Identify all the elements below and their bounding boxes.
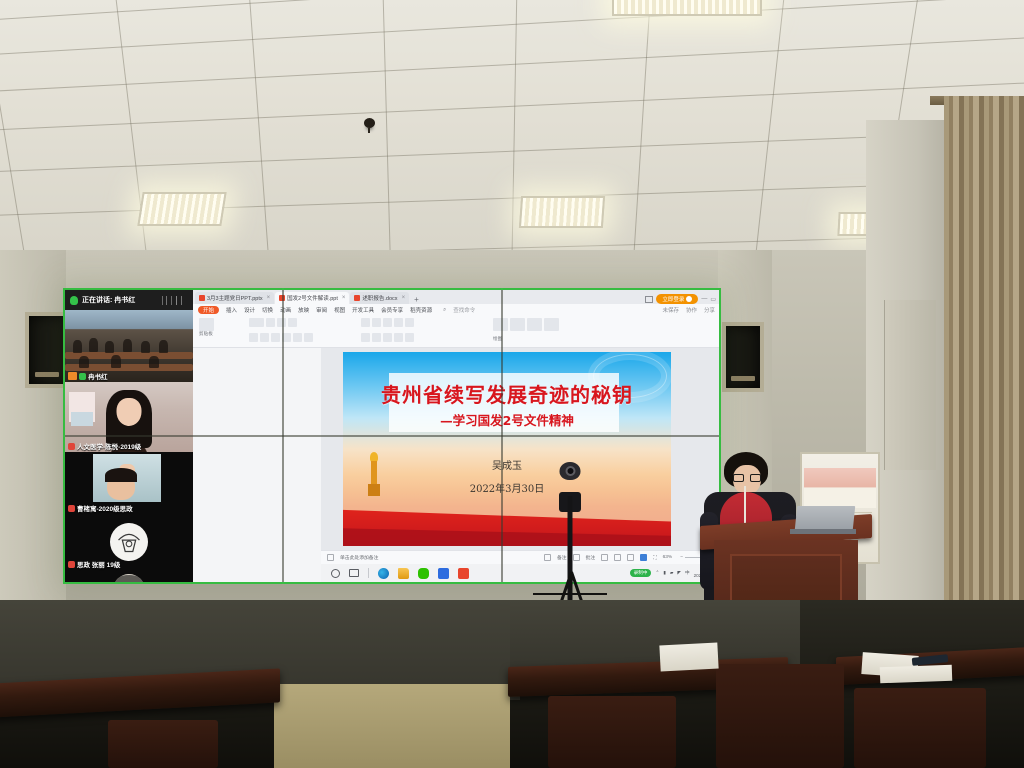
ribbon-tab-animation[interactable]: 动画: [280, 306, 291, 314]
wps-office-window[interactable]: 3月3主题党日PPT.pptx × 国发2号文件解读.ppt × 述职报告.do…: [193, 290, 719, 582]
classroom-attendee: [79, 356, 89, 368]
ribbon-tab-design[interactable]: 设计: [244, 306, 255, 314]
paste-icon[interactable]: [199, 318, 214, 331]
login-button[interactable]: 立即登录: [656, 294, 698, 304]
edge-browser-icon[interactable]: [378, 568, 389, 579]
audio-waveform-icon: [160, 296, 188, 305]
file-explorer-icon[interactable]: [398, 568, 409, 579]
participant-tile-caochuyu[interactable]: 曹楮寓-2020级思政: [65, 452, 193, 514]
wps-tab-2[interactable]: 述职报告.docx ×: [350, 292, 409, 304]
meeting-app-icon[interactable]: [438, 568, 449, 579]
participant-tile-classroom[interactable]: 冉书红: [65, 310, 193, 382]
arrange-icon[interactable]: [527, 318, 542, 331]
classroom-attendee: [89, 338, 98, 352]
avatar-hair: [115, 575, 143, 582]
ribbon-save-state: 未保存: [662, 306, 679, 314]
participant-name: 冉书红: [68, 371, 108, 381]
ribbon-tab-resources[interactable]: 稻壳资源: [410, 306, 432, 314]
chair: [548, 696, 676, 768]
network-icon[interactable]: ▰: [670, 570, 674, 576]
recording-badge: 录制中: [630, 569, 652, 577]
ceiling-tile-line: [0, 33, 1024, 93]
scene-photograph: 正在讲话: 冉书红: [0, 0, 1024, 768]
laptop-base: [790, 529, 856, 534]
notes-icon[interactable]: [327, 554, 334, 561]
new-tab-button[interactable]: +: [410, 295, 423, 304]
ribbon-tab-member[interactable]: 会员专享: [381, 306, 403, 314]
italic-icon[interactable]: [260, 333, 269, 342]
ceiling-light-panel: [612, 0, 762, 16]
volume-icon[interactable]: ◤: [677, 570, 681, 576]
presentation-slide[interactable]: 贵州省续写发展奇迹的秘钥 —学习国发2号文件精神 吴成玉 2022年3月30日: [343, 352, 671, 546]
wechat-icon[interactable]: [418, 568, 429, 579]
torch-base: [368, 484, 380, 496]
glasses-lens-left: [733, 474, 744, 482]
ribbon-group-font[interactable]: [249, 318, 313, 342]
align-left-icon[interactable]: [361, 333, 370, 342]
participant-name: 曹楮寓-2020级思政: [68, 503, 133, 513]
reading-view-icon[interactable]: [627, 554, 634, 561]
wps-tab-1[interactable]: 国发2号文件解读.ppt ×: [275, 292, 349, 304]
font-color-icon[interactable]: [304, 333, 313, 342]
underline-icon[interactable]: [271, 333, 280, 342]
glasses-lens-right: [750, 474, 761, 482]
classroom-attendee: [105, 341, 114, 353]
increase-font-icon[interactable]: [277, 318, 286, 327]
wps-tab-0[interactable]: 3月3主题党日PPT.pptx ×: [195, 292, 274, 304]
restore-icon[interactable]: ▭: [710, 296, 716, 303]
doc-file-icon: [354, 295, 360, 301]
participant-name: 人文医学-陈悦-2019级: [68, 441, 141, 451]
smoke-detector: [364, 118, 375, 128]
strikethrough-icon[interactable]: [282, 333, 291, 342]
torch-body: [371, 461, 377, 485]
chair: [854, 688, 986, 768]
notes-label[interactable]: 单击此处添加备注: [340, 554, 378, 561]
avatar-sketch-icon: [110, 523, 148, 561]
wall-speaker-right: [722, 322, 764, 392]
font-family-select[interactable]: [249, 318, 264, 327]
bold-icon[interactable]: [249, 333, 258, 342]
speaking-banner: 正在讲话: 冉书红: [65, 290, 193, 310]
ribbon-search-icon[interactable]: ⌕: [443, 307, 446, 314]
eyeglasses-icon: [733, 474, 761, 482]
ceiling-light-panel: [137, 192, 226, 226]
font-size-select[interactable]: [266, 318, 275, 327]
ceiling-tile-line: [746, 0, 790, 258]
torch-monument-graphic: [366, 452, 382, 496]
ceiling-tile-line: [628, 0, 654, 258]
ribbon-collaborate-button[interactable]: 协作: [686, 306, 697, 314]
laptop: [790, 506, 856, 534]
bullet-list-icon[interactable]: [361, 318, 370, 327]
fit-slide-icon[interactable]: ⛶: [653, 555, 656, 561]
ime-indicator[interactable]: 中: [685, 570, 690, 576]
chair: [716, 664, 844, 768]
align-center-icon[interactable]: [372, 333, 381, 342]
slide-title: 贵州省续写发展奇迹的秘钥: [343, 379, 671, 408]
zoom-out-button[interactable]: −: [680, 555, 683, 560]
led-video-wall[interactable]: 正在讲话: 冉书红: [63, 288, 721, 584]
align-right-icon[interactable]: [383, 333, 392, 342]
classroom-attendee: [123, 339, 132, 352]
ribbon-group-drawing-label: 绘图: [493, 336, 502, 342]
ribbon-tab-strip[interactable]: 开始 插入 设计 切换 动画 放映 审阅 视图 开发工具 会员专享 稻壳资源 ⌕…: [193, 304, 719, 316]
camera-lens-icon: [565, 466, 575, 476]
mic-muted-icon: [68, 443, 75, 450]
paper-sheet: [880, 665, 953, 684]
background-object: [71, 412, 93, 426]
columns-icon[interactable]: [405, 333, 414, 342]
close-icon[interactable]: ×: [267, 295, 271, 301]
close-icon[interactable]: ×: [342, 295, 346, 301]
participant-tile-chenyue[interactable]: 人文医学-陈悦-2019级: [65, 382, 193, 452]
participant-tile-zhangli[interactable]: 思政 张丽 19级: [65, 514, 193, 570]
participant-name: 思政 张丽 19级: [68, 559, 120, 569]
speaking-label: 正在讲话: 冉书红: [82, 295, 135, 305]
avatar: [110, 523, 148, 561]
ribbon-tab-insert[interactable]: 插入: [226, 306, 237, 314]
numbered-list-icon[interactable]: [372, 318, 381, 327]
increase-indent-icon[interactable]: [394, 318, 403, 327]
mic-muted-icon: [68, 505, 75, 512]
laptop-screen: [795, 506, 856, 530]
classroom-attendee: [73, 340, 82, 353]
search-circle-icon[interactable]: [331, 569, 340, 578]
fill-color-icon[interactable]: [544, 318, 559, 331]
foreground-room: [0, 600, 1024, 768]
light-wood-panel: [274, 684, 510, 768]
participant-tile-extra[interactable]: [65, 570, 193, 582]
avatar: [113, 574, 145, 582]
ribbon-toolbar[interactable]: 剪贴板: [193, 316, 719, 348]
close-icon[interactable]: ×: [402, 295, 406, 301]
wall-recess-panel: [884, 300, 936, 470]
shapes-icon[interactable]: [510, 318, 525, 331]
ribbon-group-paragraph[interactable]: [361, 318, 414, 342]
decrease-indent-icon[interactable]: [383, 318, 392, 327]
paper-sheet: [659, 643, 718, 672]
user-avatar-icon: [686, 296, 692, 302]
person-hair: [105, 468, 137, 482]
decrease-font-icon[interactable]: [288, 318, 297, 327]
slide-subtitle: —学习国发2号文件精神: [343, 410, 671, 429]
ribbon-tab-view[interactable]: 视图: [334, 306, 345, 314]
chair: [108, 720, 218, 768]
zoom-level[interactable]: 63%: [663, 555, 673, 560]
ribbon-tab-home[interactable]: 开始: [198, 306, 219, 314]
wps-tab-bar[interactable]: 3月3主题党日PPT.pptx × 国发2号文件解读.ppt × 述职报告.do…: [193, 290, 719, 304]
ribbon-group-clipboard-label: 剪贴板: [199, 331, 214, 337]
slide-author: 吴成玉: [343, 457, 671, 472]
ribbon-share-button[interactable]: 分享: [704, 306, 719, 314]
mic-on-icon: [79, 373, 86, 380]
ceiling-tile-line: [381, 0, 393, 258]
host-badge-icon: [68, 372, 77, 380]
taskbar-divider: [368, 568, 369, 578]
line-spacing-icon[interactable]: [405, 318, 414, 327]
ribbon-tab-review[interactable]: 审阅: [316, 306, 327, 314]
task-view-icon[interactable]: [349, 569, 359, 577]
classroom-attendee: [149, 356, 159, 368]
ribbon-tab-transition[interactable]: 切换: [262, 306, 273, 314]
split-view-icon[interactable]: [645, 296, 653, 303]
mic-muted-icon: [68, 561, 75, 568]
wps-office-icon[interactable]: [458, 568, 469, 579]
classroom-attendee: [159, 340, 168, 353]
ribbon-search-label[interactable]: 查找命令: [453, 306, 475, 314]
meeting-participant-list[interactable]: 冉书红 人文医学-陈悦-2019级: [65, 310, 193, 582]
video-camera: [560, 462, 581, 480]
ribbon-tab-slideshow[interactable]: 放映: [298, 306, 309, 314]
minimize-icon[interactable]: —: [701, 296, 707, 302]
microphone-icon: [70, 296, 78, 305]
screen-content[interactable]: 正在讲话: 冉书红: [65, 290, 719, 582]
slideshow-icon[interactable]: [640, 554, 647, 561]
person-face: [117, 398, 142, 426]
classroom-attendee: [141, 341, 150, 353]
ribbon-group-clipboard[interactable]: 剪贴板: [199, 318, 214, 337]
text-shadow-icon[interactable]: [293, 333, 302, 342]
ppt-file-icon: [279, 295, 285, 301]
poster-graphic: [804, 468, 876, 508]
classroom-attendee: [111, 355, 121, 368]
tray-chevron-icon[interactable]: ⌃: [655, 570, 659, 576]
ribbon-group-drawing[interactable]: 绘图: [493, 318, 559, 342]
ppt-file-icon: [199, 295, 205, 301]
webcam-feed: [93, 454, 161, 502]
ribbon-tab-developer[interactable]: 开发工具: [352, 306, 374, 314]
smart-art-icon[interactable]: [493, 318, 508, 331]
slide-date: 2022年3月30日: [343, 480, 671, 495]
battery-icon[interactable]: ▮: [663, 570, 666, 576]
ceiling-light-panel: [519, 196, 605, 228]
justify-icon[interactable]: [394, 333, 403, 342]
ceiling-tile-line: [510, 0, 518, 258]
